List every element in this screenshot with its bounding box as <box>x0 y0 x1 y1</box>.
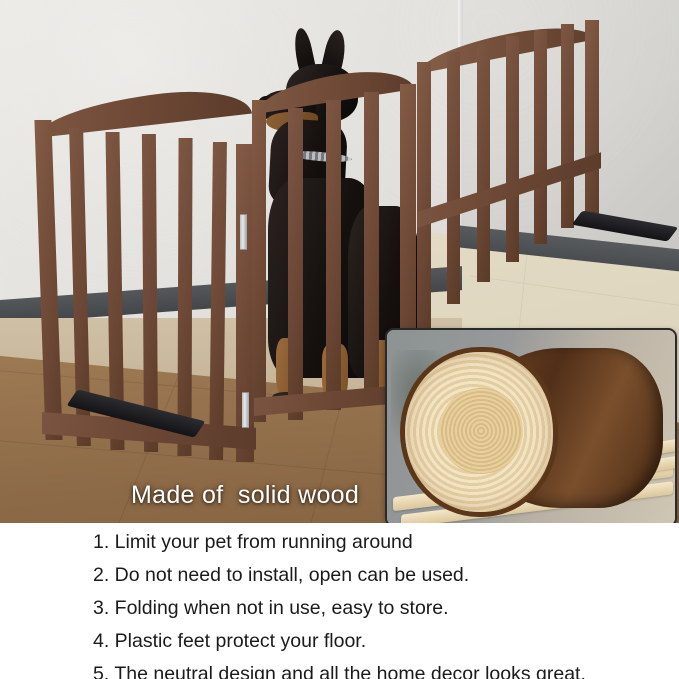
panel-3-left-stile <box>417 62 431 330</box>
feature-item-3: 3. Folding when not in use, easy to stor… <box>93 597 449 620</box>
log-heartwood <box>439 388 523 474</box>
product-image-page: Made of solid wood 1. Limit your pet fro… <box>0 0 679 679</box>
gate-slat <box>142 134 158 452</box>
gate-slat <box>177 138 192 456</box>
gate-slat <box>364 92 379 398</box>
panel-3-right-stile <box>585 20 599 216</box>
gate-slat <box>477 44 490 282</box>
gate-slat <box>561 24 574 228</box>
gate-hinge-upper <box>240 214 247 250</box>
feature-item-2: 2. Do not need to install, open can be u… <box>93 564 469 587</box>
panel-2-left-stile <box>252 100 266 422</box>
panel-1-left-stile <box>34 120 62 440</box>
feature-list: 1. Limit your pet from running around 2.… <box>0 523 679 679</box>
gate-slat <box>326 100 341 410</box>
product-photo: Made of solid wood <box>0 0 679 523</box>
feature-item-5: 5. The neutral design and all the home d… <box>93 663 586 679</box>
made-of-solid-wood-caption: Made of solid wood <box>131 481 359 510</box>
feature-item-4: 4. Plastic feet protect your floor. <box>93 630 366 653</box>
gate-slat <box>288 108 303 420</box>
panel-1-top-rail <box>35 84 252 138</box>
gate-slat <box>506 36 519 262</box>
solid-wood-log-inset <box>385 328 677 523</box>
gate-slat <box>534 30 547 244</box>
feature-item-1: 1. Limit your pet from running around <box>93 531 413 554</box>
gate-hinge-lower <box>242 392 249 428</box>
gate-panel-1 <box>0 0 260 523</box>
gate-slat <box>447 52 460 304</box>
gate-slat <box>209 142 227 460</box>
